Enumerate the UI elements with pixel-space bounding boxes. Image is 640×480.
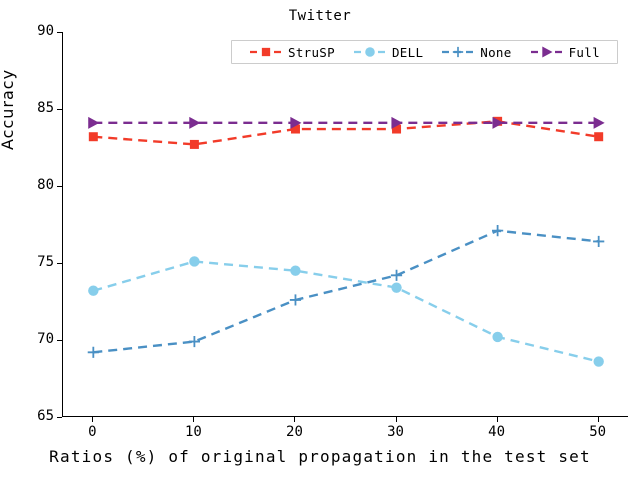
data-point-marker	[88, 286, 98, 296]
data-point-marker	[391, 270, 402, 281]
data-point-marker	[492, 225, 503, 236]
data-point-marker	[189, 336, 200, 347]
y-tick-mark	[57, 417, 62, 418]
data-point-marker	[189, 117, 200, 129]
data-point-marker	[190, 140, 199, 149]
x-tick-label: 50	[578, 424, 618, 440]
data-point-marker	[290, 266, 300, 276]
x-tick-mark	[193, 417, 194, 422]
plot-lines	[63, 32, 629, 417]
data-point-marker	[88, 117, 99, 129]
x-tick-mark	[497, 417, 498, 422]
data-point-marker	[391, 282, 401, 292]
y-tick-label: 90	[14, 23, 54, 39]
x-tick-mark	[598, 417, 599, 422]
y-tick-label: 70	[14, 331, 54, 347]
y-tick-label: 80	[14, 177, 54, 193]
x-tick-mark	[396, 417, 397, 422]
chart-figure: Twitter StruSPDELLNoneFull Accuracy Rati…	[0, 0, 640, 480]
data-point-marker	[594, 117, 605, 129]
plot-area	[62, 32, 628, 417]
data-point-marker	[89, 132, 98, 141]
y-tick-mark	[57, 109, 62, 110]
y-tick-mark	[57, 340, 62, 341]
x-tick-label: 0	[72, 424, 112, 440]
data-point-marker	[88, 347, 99, 358]
y-tick-label: 85	[14, 100, 54, 116]
data-point-marker	[290, 294, 301, 305]
y-tick-label: 75	[14, 254, 54, 270]
y-tick-mark	[57, 263, 62, 264]
x-tick-label: 20	[274, 424, 314, 440]
series-line	[93, 261, 598, 361]
data-point-marker	[492, 332, 502, 342]
x-tick-mark	[294, 417, 295, 422]
y-tick-mark	[57, 186, 62, 187]
x-axis-label: Ratios (%) of original propagation in th…	[0, 447, 640, 466]
x-tick-label: 30	[376, 424, 416, 440]
y-tick-label: 65	[14, 408, 54, 424]
chart-title: Twitter	[0, 8, 640, 24]
y-tick-mark	[57, 32, 62, 33]
data-point-marker	[593, 236, 604, 247]
x-tick-label: 40	[477, 424, 517, 440]
data-point-marker	[593, 356, 603, 366]
series-line	[93, 121, 598, 144]
series-line	[93, 231, 598, 353]
data-point-marker	[594, 132, 603, 141]
x-tick-mark	[92, 417, 93, 422]
x-tick-label: 10	[173, 424, 213, 440]
data-point-marker	[189, 256, 199, 266]
